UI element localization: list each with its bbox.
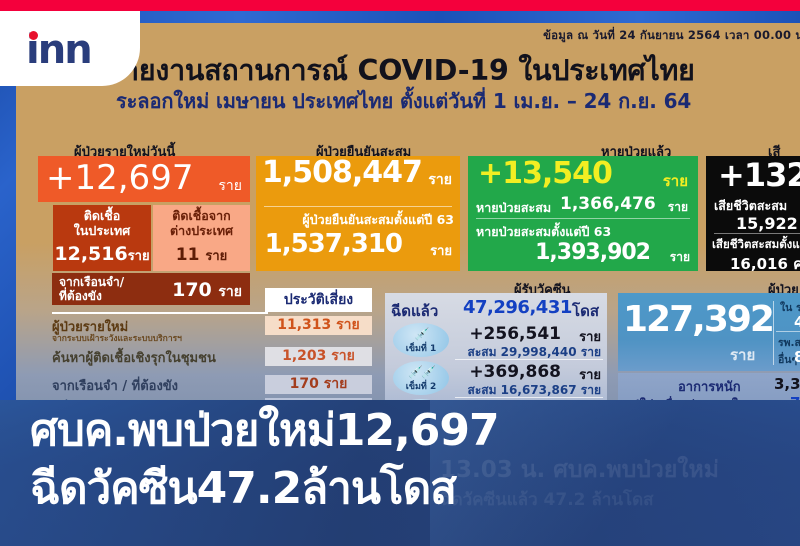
dose-1-circle-label: เข็มที่ 1 <box>393 341 449 355</box>
foreign-label-line2: ต่างประเทศ <box>153 223 250 238</box>
recovered-since-unit: ราย <box>670 248 690 267</box>
cumulative-unit: ราย <box>428 169 452 191</box>
prison-label-line2: ที่ต้องขัง <box>59 289 124 303</box>
risk-row-value-0: 11,313 ราย <box>265 316 372 335</box>
domestic-cases-value: 12,516ราย <box>53 243 151 266</box>
new-cases-value: +12,697 <box>46 158 193 198</box>
vaccination-injected-value: 47,296,431 <box>463 297 572 318</box>
severe-label: อาการหนัก <box>678 376 741 397</box>
foreign-cases-block: ติดเชื้อจาก ต่างประเทศ 11 ราย <box>153 205 250 271</box>
treating-hospital-value: 41,018 <box>794 313 800 331</box>
domestic-cases-block: ติดเชื้อ ในประเทศ 12,516ราย <box>53 205 151 271</box>
table-row: จากเรือนจำ / ที่ต้องขัง 170 ราย <box>52 375 372 394</box>
domestic-value-number: 12,516 <box>54 243 127 265</box>
inn-logo: inn <box>26 29 121 71</box>
domestic-cases-label: ติดเชื้อ ในประเทศ <box>53 208 151 238</box>
data-timestamp: ข้อมูล ณ วันที่ 24 กันยายน 2564 เวลา 00.… <box>543 27 800 45</box>
risk-history-caption: ประวัติเสี่ยง <box>265 288 372 312</box>
treating-value: 127,392 <box>623 299 773 340</box>
prison-label-line1: จากเรือนจำ/ <box>59 275 124 289</box>
new-cases-card: +12,697 ราย ติดเชื้อ ในประเทศ 12,516ราย … <box>38 156 250 271</box>
cumulative-since-unit: ราย <box>430 240 452 261</box>
treating-inner-divider <box>776 331 800 332</box>
domestic-value-unit: ราย <box>128 249 150 264</box>
cumulative-since-label: ผู้ป่วยยืนยันสะสมตั้งแต่ปี 63 <box>256 210 454 230</box>
vaccination-injected-unit: โดส <box>572 299 599 323</box>
foreign-value-unit: ราย <box>205 249 227 264</box>
risk-row-label-2: จากเรือนจำ / ที่ต้องขัง <box>52 375 178 396</box>
banner-headline-line1: ศบค.พบป่วยใหม่12,697 <box>30 404 499 458</box>
deaths-divider <box>714 233 800 234</box>
recovered-unit: ราย <box>663 169 688 193</box>
syringe-glyph-1: 💉 <box>393 327 449 341</box>
recovered-divider <box>476 218 690 219</box>
dose-row-1: 💉 เข็มที่ 1 +256,541 ราย สะสม 29,998,440… <box>385 323 607 359</box>
infographic-sheet: ข้อมูล ณ วันที่ 24 กันยายน 2564 เวลา 00.… <box>16 23 800 423</box>
logo-dot-icon <box>29 31 38 40</box>
foreign-label-line1: ติดเชื้อจาก <box>153 208 250 223</box>
cumulative-value: 1,508,447 <box>262 156 422 190</box>
cumulative-divider <box>264 206 452 207</box>
deaths-card: +132 เสียชีวิตสะสม 15,922 คน 1 เสียชีวิต… <box>706 156 800 271</box>
recovered-cum-unit: ราย <box>668 198 688 217</box>
treating-main: 127,392 ราย ใน รพ. 41,018 รพ.สนามและอื่น… <box>618 293 800 371</box>
dose-2-circle-label: เข็มที่ 2 <box>393 379 449 393</box>
recovered-cum-label: หายป่วยสะสม <box>476 198 551 218</box>
syringe-icon: 💉 เข็มที่ 1 <box>393 323 449 357</box>
domestic-label-line1: ติดเชื้อ <box>53 208 151 223</box>
cumulative-since-value: 1,537,310 <box>256 229 402 259</box>
foreign-cases-label: ติดเชื้อจาก ต่างประเทศ <box>153 208 250 238</box>
prison-cases-block: จากเรือนจำ/ ที่ต้องขัง 170 ราย <box>52 273 250 305</box>
vaccination-header: ฉีดแล้ว 47,296,431 โดส <box>391 297 601 321</box>
table-row: ผู้ป่วยรายใหม่ จากระบบเฝ้าระวังและระบบบร… <box>52 316 372 335</box>
prison-cases-label: จากเรือนจำ/ ที่ต้องขัง <box>59 275 124 303</box>
treating-unit: ราย <box>730 343 755 367</box>
domestic-label-line2: ในประเทศ <box>53 223 151 238</box>
risk-row-sublabel-0: จากระบบเฝ้าระวังและระบบบริการฯ <box>52 331 182 345</box>
foreign-cases-value: 11 ราย <box>153 245 250 266</box>
dose-2-plus: +369,868 <box>457 362 561 382</box>
treating-separator <box>773 301 774 365</box>
recovered-cum-value: 1,366,476 <box>560 194 656 214</box>
top-red-bar <box>0 0 800 11</box>
syringe-icon: 💉💉 เข็มที่ 2 <box>393 361 449 395</box>
dose-divider-1 <box>455 359 603 360</box>
prison-value-number: 170 <box>172 279 212 301</box>
dose-divider-2 <box>455 397 603 398</box>
recovered-card: +13,540 ราย หายป่วยสะสม 1,366,476 ราย หา… <box>468 156 698 271</box>
foreign-value-number: 11 <box>176 245 200 265</box>
table-row: ค้นหาผู้ติดเชื้อเชิงรุกในชุมชน 1,203 ราย <box>52 347 372 366</box>
treating-field-value: 86,374 <box>794 348 800 366</box>
dose-row-2: 💉💉 เข็มที่ 2 +369,868 ราย สะสม 16,673,86… <box>385 361 607 397</box>
recovered-since-value: 1,393,902 <box>535 240 650 265</box>
banner-watermark-line2: ฉีดวัคซีนแล้ว 47.2 ล้านโดส <box>440 486 654 513</box>
screenshot-root: ข้อมูล ณ วันที่ 24 กันยายน 2564 เวลา 00.… <box>0 0 800 546</box>
inn-logo-card[interactable]: inn <box>0 11 140 86</box>
risk-table-rule <box>52 312 268 314</box>
infographic-subtitle: ระลอกใหม่ เมษายน ประเทศไทย ตั้งแต่วันที่… <box>116 85 691 117</box>
syringe-glyph-2: 💉💉 <box>393 365 449 379</box>
deaths-since-value: 16,016 คน <box>730 252 800 271</box>
severe-value: 3,377 <box>774 375 800 393</box>
banner-headline-line2: ฉีดวัคซีน47.2ล้านโดส <box>30 462 456 516</box>
recovered-value: +13,540 <box>478 156 612 191</box>
dose-1-plus: +256,541 <box>457 324 561 344</box>
prison-value-unit: ราย <box>218 284 242 300</box>
risk-row-value-2: 170 ราย <box>265 375 372 394</box>
deaths-value: +132 <box>718 156 800 194</box>
inn-logo-text: inn <box>26 29 121 71</box>
new-cases-total: +12,697 ราย <box>38 156 250 202</box>
risk-row-label-1: ค้นหาผู้ติดเชื้อเชิงรุกในชุมชน <box>52 347 216 368</box>
prison-cases-value: 170 ราย <box>172 279 242 303</box>
risk-history-caption-text: ประวัติเสี่ยง <box>265 288 372 312</box>
recovered-since-label: หายป่วยสะสมตั้งแต่ปี 63 <box>476 222 611 242</box>
vaccination-injected-label: ฉีดแล้ว <box>391 299 438 323</box>
new-cases-unit: ราย <box>218 175 242 197</box>
risk-row-value-1: 1,203 ราย <box>265 347 372 366</box>
cumulative-card: 1,508,447 ราย ผู้ป่วยยืนยันสะสมตั้งแต่ปี… <box>256 156 460 271</box>
